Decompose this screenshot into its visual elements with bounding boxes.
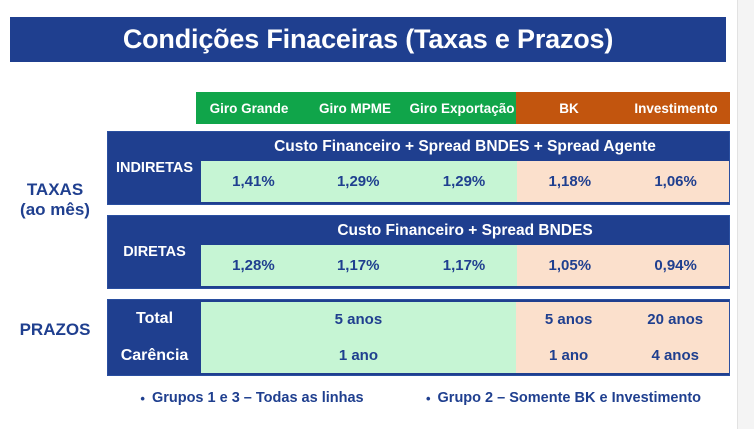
- column-header-giro-grande: Giro Grande: [196, 92, 302, 124]
- page-title: Condições Finaceiras (Taxas e Prazos): [123, 24, 613, 55]
- bullet-icon: •: [140, 392, 145, 405]
- footnote-row: • Grupos 1 e 3 – Todas as linhas • Grupo…: [107, 385, 730, 411]
- page-edge-strip: [737, 0, 754, 429]
- prazos-grid: 5 anos 1 ano 5 anos 1 ano 20 anos 4 anos: [201, 302, 729, 373]
- section-indiretas: INDIRETAS Custo Financeiro + Spread BNDE…: [107, 131, 730, 205]
- cell-indiretas-giro-mpme: 1,29%: [306, 161, 411, 202]
- slide-canvas: Condições Finaceiras (Taxas e Prazos) Gi…: [0, 0, 754, 429]
- cell-indiretas-giro-exportacao: 1,29%: [411, 161, 518, 202]
- section-caption-indiretas: Custo Financeiro + Spread BNDES + Spread…: [201, 134, 729, 160]
- cell-indiretas-investimento: 1,06%: [622, 161, 729, 202]
- prazos-row-labels: Total Carência: [108, 300, 201, 375]
- side-label-taxas: TAXAS (ao mês): [6, 180, 104, 221]
- cell-prazos-carencia-investimento: 4 anos: [621, 338, 729, 374]
- section-prazos: Total Carência 5 anos 1 ano 5 anos 1 ano…: [107, 299, 730, 376]
- section-label-diretas: DIRETAS: [108, 216, 201, 288]
- footnote-grupo-2-text: Grupo 2 – Somente BK e Investimento: [438, 390, 701, 406]
- footnote-grupos-1-3-text: Grupos 1 e 3 – Todas as linhas: [152, 390, 364, 406]
- prazos-column-giro-merged: 5 anos 1 ano: [201, 302, 516, 373]
- column-header-row: Giro Grande Giro MPME Giro Exportação BK…: [196, 92, 730, 124]
- section-diretas: DIRETAS Custo Financeiro + Spread BNDES …: [107, 215, 730, 289]
- side-label-taxas-line2: (ao mês): [6, 200, 104, 220]
- value-row-diretas: 1,28% 1,17% 1,17% 1,05% 0,94%: [201, 245, 729, 286]
- section-caption-diretas: Custo Financeiro + Spread BNDES: [201, 218, 729, 244]
- cell-diretas-giro-exportacao: 1,17%: [411, 245, 518, 286]
- cell-prazos-total-giro: 5 anos: [201, 302, 516, 338]
- cell-prazos-total-bk: 5 anos: [516, 302, 622, 338]
- column-header-giro-mpme: Giro MPME: [302, 92, 408, 124]
- footnote-grupos-1-3: • Grupos 1 e 3 – Todas as linhas: [107, 390, 397, 406]
- cell-prazos-total-investimento: 20 anos: [621, 302, 729, 338]
- cell-indiretas-giro-grande: 1,41%: [201, 161, 306, 202]
- prazos-column-investimento: 20 anos 4 anos: [621, 302, 729, 373]
- cell-diretas-giro-mpme: 1,17%: [306, 245, 411, 286]
- row-label-total: Total: [108, 300, 201, 338]
- column-header-bk: BK: [516, 92, 622, 124]
- footnote-grupo-2: • Grupo 2 – Somente BK e Investimento: [397, 390, 730, 406]
- prazos-column-bk: 5 anos 1 ano: [516, 302, 622, 373]
- column-header-investimento: Investimento: [622, 92, 730, 124]
- top-margin-strip: [0, 0, 737, 8]
- cell-diretas-giro-grande: 1,28%: [201, 245, 306, 286]
- column-header-giro-exportacao: Giro Exportação: [408, 92, 516, 124]
- cell-prazos-carencia-bk: 1 ano: [516, 338, 622, 374]
- bullet-icon: •: [426, 392, 431, 405]
- cell-indiretas-bk: 1,18%: [517, 161, 622, 202]
- row-label-carencia: Carência: [108, 338, 201, 376]
- side-label-taxas-line1: TAXAS: [6, 180, 104, 200]
- cell-diretas-bk: 1,05%: [517, 245, 622, 286]
- section-label-indiretas: INDIRETAS: [108, 132, 201, 204]
- value-row-indiretas: 1,41% 1,29% 1,29% 1,18% 1,06%: [201, 161, 729, 202]
- side-label-prazos: PRAZOS: [6, 320, 104, 340]
- title-banner: Condições Finaceiras (Taxas e Prazos): [10, 17, 726, 62]
- cell-diretas-investimento: 0,94%: [622, 245, 729, 286]
- cell-prazos-carencia-giro: 1 ano: [201, 338, 516, 374]
